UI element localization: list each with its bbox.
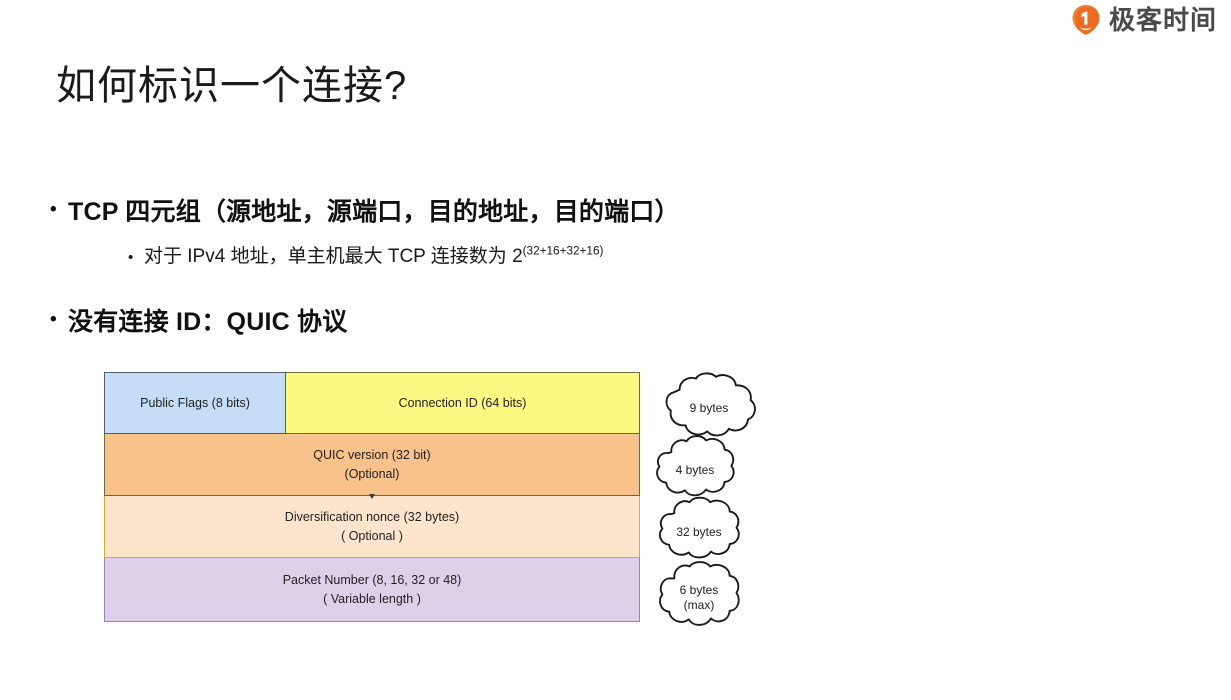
quic-packet-diagram: Public Flags (8 bits) Connection ID (64 … — [104, 372, 754, 634]
bullet-item-ipv4-max-connections: • 对于 IPv4 地址，单主机最大 TCP 连接数为 2(32+16+32+1… — [128, 244, 850, 271]
packet-field-table: Public Flags (8 bits) Connection ID (64 … — [104, 372, 640, 622]
bullet-marker-icon: • — [50, 306, 68, 334]
field-label: Packet Number (8, 16, 32 or 48) — [283, 571, 462, 589]
field-label: Connection ID (64 bits) — [399, 394, 527, 412]
byte-size-callouts: 9 bytes 4 bytes 32 bytes — [649, 366, 759, 638]
bullet-text: TCP 四元组（源地址，源端口，目的地址，目的端口） — [68, 196, 680, 230]
bullet-item-tcp-tuple: • TCP 四元组（源地址，源端口，目的地址，目的端口） — [50, 196, 850, 230]
bullet-text: 没有连接 ID：QUIC 协议 — [68, 306, 347, 340]
exponent-text: (32+16+32+16) — [523, 244, 604, 257]
bullet-list: • TCP 四元组（源地址，源端口，目的地址，目的端口） • 对于 IPv4 地… — [50, 196, 850, 340]
bullet-marker-icon: • — [50, 196, 68, 224]
cloud-callout-6-bytes-max: 6 bytes (max) — [653, 558, 745, 638]
field-quic-version: QUIC version (32 bit) (Optional) — [104, 434, 640, 496]
field-diversification-nonce: Diversification nonce (32 bytes) ( Optio… — [104, 496, 640, 558]
field-sublabel: ( Optional ) — [341, 527, 403, 545]
packet-row-packet-number: Packet Number (8, 16, 32 or 48) ( Variab… — [104, 558, 640, 622]
brand-name: 极客时间 — [1109, 7, 1217, 33]
packet-row-header: Public Flags (8 bits) Connection ID (64 … — [104, 372, 640, 434]
sub-bullet-text-body: 对于 IPv4 地址，单主机最大 TCP 连接数为 2 — [144, 246, 523, 267]
bullet-spacer — [50, 270, 850, 306]
bullet-item-quic: • 没有连接 ID：QUIC 协议 — [50, 306, 850, 340]
sub-bullet-text: 对于 IPv4 地址，单主机最大 TCP 连接数为 2(32+16+32+16) — [144, 244, 603, 271]
geek-pin-icon — [1070, 4, 1102, 36]
field-packet-number: Packet Number (8, 16, 32 or 48) ( Variab… — [104, 558, 640, 622]
packet-row-nonce: Diversification nonce (32 bytes) ( Optio… — [104, 496, 640, 558]
field-label: Public Flags (8 bits) — [140, 394, 250, 412]
packet-row-version: QUIC version (32 bit) (Optional) — [104, 434, 640, 496]
field-label: Diversification nonce (32 bytes) — [285, 508, 459, 526]
field-label: QUIC version (32 bit) — [313, 446, 430, 464]
field-sublabel: (Optional) — [345, 465, 400, 483]
page-title: 如何标识一个连接? — [56, 53, 407, 111]
field-sublabel: ( Variable length ) — [323, 590, 421, 608]
brand-logo: 极客时间 — [1070, 4, 1217, 36]
field-connection-id: Connection ID (64 bits) — [286, 372, 640, 434]
bullet-marker-icon: • — [128, 247, 144, 268]
field-public-flags: Public Flags (8 bits) — [104, 372, 286, 434]
down-triangle-icon — [369, 494, 375, 499]
cloud-shape-icon — [653, 558, 745, 638]
